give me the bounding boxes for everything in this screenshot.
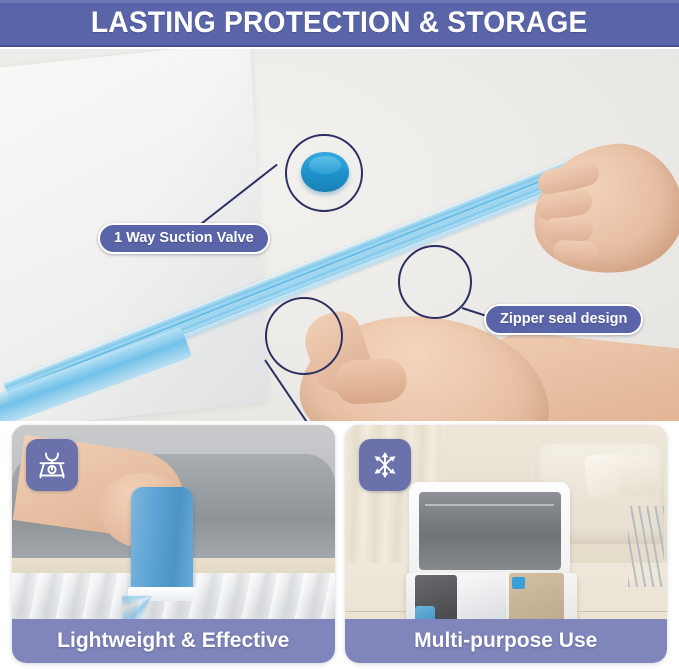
hero-product-photo: 1 Way Suction Valve Zipper seal design F… [0, 49, 679, 421]
callout-label-zipper-seal-design: Zipper seal design [484, 304, 643, 335]
callout-circle-full-zipper-seal [265, 297, 343, 375]
header-banner: LASTING PROTECTION & STORAGE [0, 0, 679, 47]
liner-zipper [425, 504, 554, 506]
callout-circle-suction-valve [285, 134, 363, 212]
knuckles [333, 357, 408, 406]
blue-vacuum-pump [131, 487, 192, 594]
multi-direction-arrows-icon [359, 439, 411, 491]
panel-caption-multi-purpose-use: Multi-purpose Use [345, 619, 668, 663]
kitchen-scale-icon [26, 439, 78, 491]
cushion [616, 454, 659, 499]
finger [553, 240, 598, 264]
drying-rack [628, 506, 663, 587]
packed-bag-valve [512, 577, 525, 589]
product-infographic: LASTING PROTECTION & STORAGE 1 Way Sucti… [0, 0, 679, 669]
panel-caption-text: Multi-purpose Use [414, 629, 597, 653]
page-title: LASTING PROTECTION & STORAGE [91, 6, 588, 40]
feature-panels: Lightweight & Effective [0, 425, 679, 669]
panel-multi-purpose-use: Multi-purpose Use [345, 425, 668, 663]
panel-lightweight-effective: Lightweight & Effective [12, 425, 335, 663]
panel-caption-text: Lightweight & Effective [57, 629, 289, 653]
packed-bag-clear [461, 573, 506, 625]
panel-caption-lightweight-effective: Lightweight & Effective [12, 619, 335, 663]
callout-label-suction-valve: 1 Way Suction Valve [98, 223, 270, 254]
